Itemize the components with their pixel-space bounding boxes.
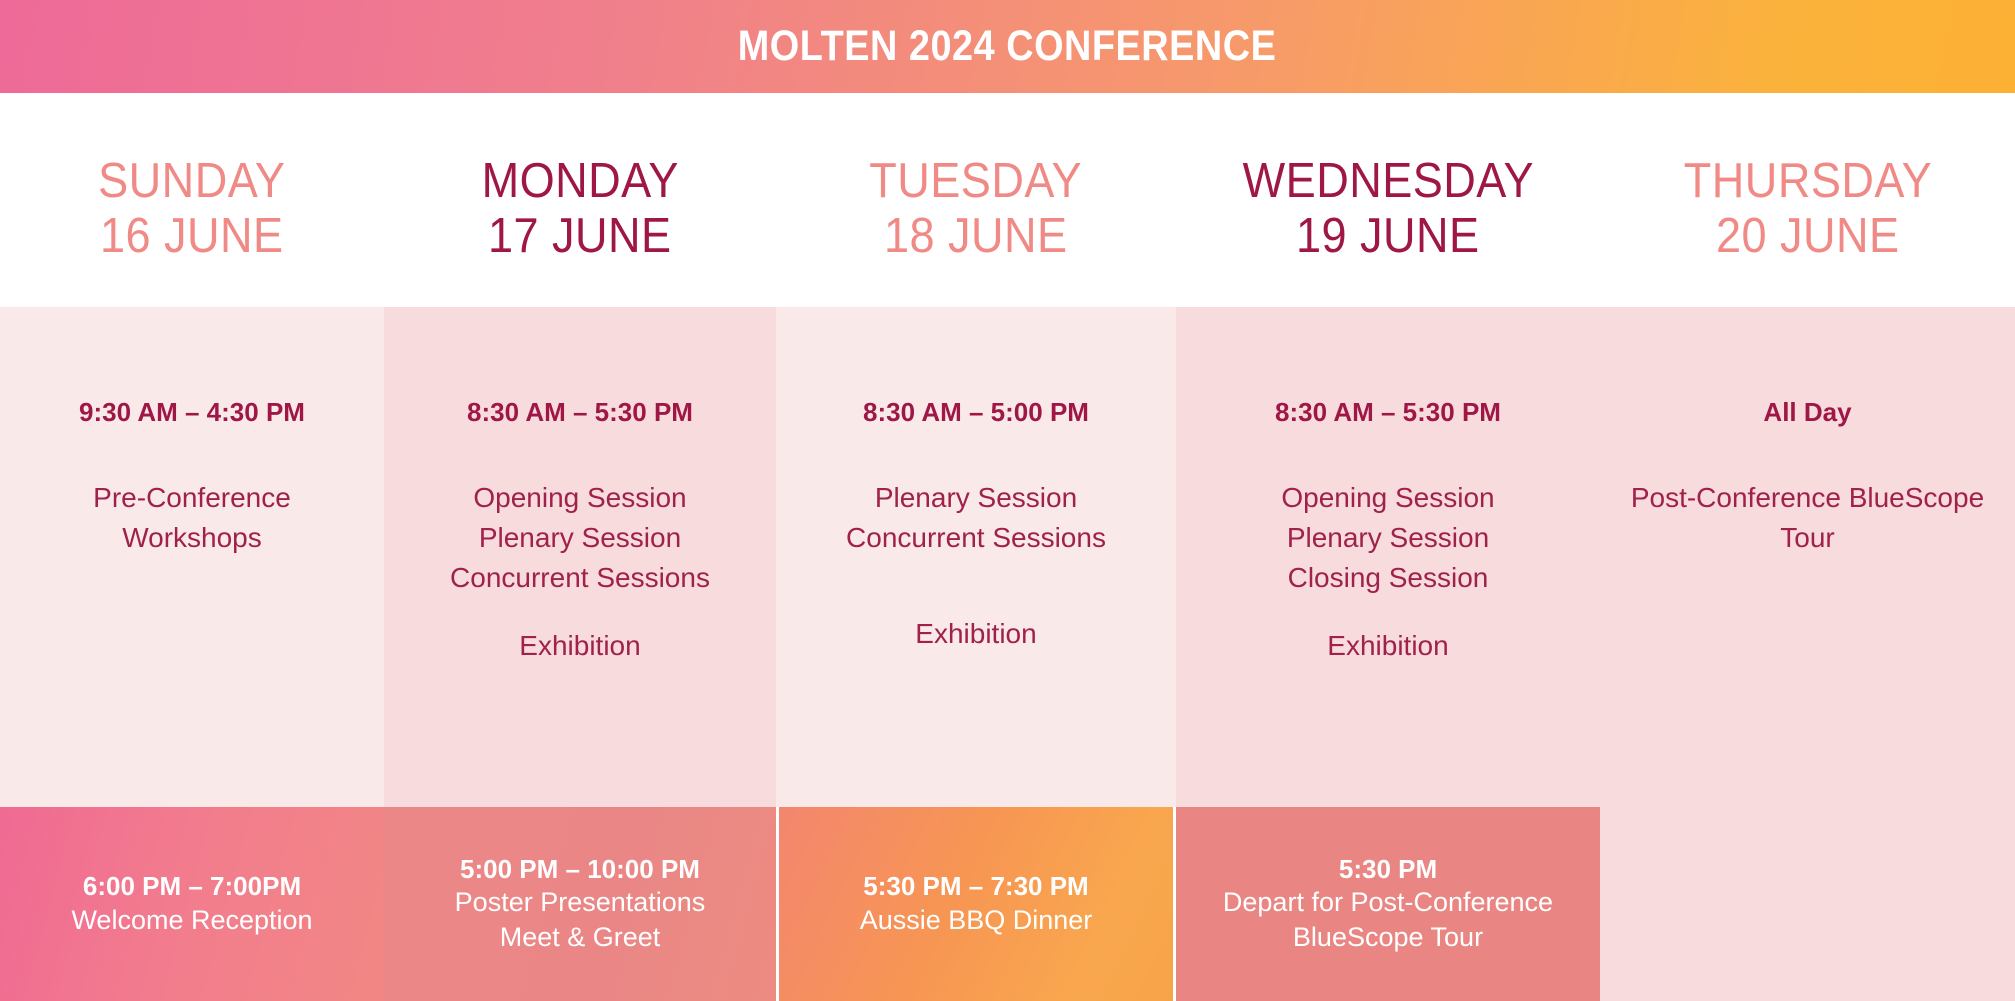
evening-cell-thursday-empty — [1600, 807, 2015, 1001]
evening-time-sunday: 6:00 PM – 7:00PM — [83, 870, 301, 903]
daytime-programme-band: 9:30 AM – 4:30 PM Pre-Conference Worksho… — [0, 307, 2015, 807]
day-header-sunday: SUNDAY 16 JUNE — [0, 93, 384, 307]
schedule-time-sunday: 9:30 AM – 4:30 PM — [79, 397, 305, 428]
evening-cell-monday: 5:00 PM – 10:00 PM Poster Presentations … — [384, 807, 776, 1001]
schedule-cell-tuesday: 8:30 AM – 5:00 PM Plenary Session Concur… — [776, 307, 1176, 807]
evening-item: Welcome Reception — [71, 903, 312, 938]
evening-cell-sunday: 6:00 PM – 7:00PM Welcome Reception — [0, 807, 384, 1001]
schedule-items-monday: Opening Session Plenary Session Concurre… — [450, 478, 710, 666]
schedule-item: Post-Conference BlueScope Tour — [1618, 478, 1998, 558]
spacer — [1281, 598, 1494, 626]
day-name-sunday: SUNDAY — [98, 154, 285, 209]
page-title: MOLTEN 2024 CONFERENCE — [738, 22, 1277, 71]
schedule-item-exhibition: Exhibition — [1281, 626, 1494, 666]
evening-cell-wednesday: 5:30 PM Depart for Post-Conference BlueS… — [1176, 807, 1600, 1001]
schedule-time-wednesday: 8:30 AM – 5:30 PM — [1275, 397, 1501, 428]
day-name-thursday: THURSDAY — [1683, 154, 1931, 209]
conference-schedule: MOLTEN 2024 CONFERENCE SUNDAY 16 JUNE MO… — [0, 0, 2015, 1001]
day-date-thursday: 20 JUNE — [1716, 209, 1900, 264]
schedule-item: Opening Session — [450, 478, 710, 518]
schedule-item: Closing Session — [1281, 558, 1494, 598]
evening-item: BlueScope Tour — [1293, 920, 1483, 955]
evening-time-wednesday: 5:30 PM — [1339, 853, 1437, 886]
day-name-wednesday: WEDNESDAY — [1242, 154, 1533, 209]
schedule-time-tuesday: 8:30 AM – 5:00 PM — [863, 397, 1089, 428]
evening-item: Poster Presentations — [455, 885, 706, 920]
spacer — [846, 586, 1106, 614]
schedule-item: Concurrent Sessions — [450, 558, 710, 598]
evening-item: Aussie BBQ Dinner — [860, 903, 1093, 938]
schedule-items-tuesday: Plenary Session Concurrent Sessions Exhi… — [846, 478, 1106, 654]
day-name-monday: MONDAY — [481, 154, 678, 209]
day-date-tuesday: 18 JUNE — [884, 209, 1068, 264]
day-header-row: SUNDAY 16 JUNE MONDAY 17 JUNE TUESDAY 18… — [0, 93, 2015, 307]
schedule-item: Opening Session — [1281, 478, 1494, 518]
day-header-thursday: THURSDAY 20 JUNE — [1600, 93, 2015, 307]
schedule-item-exhibition: Exhibition — [450, 626, 710, 666]
schedule-item-exhibition: Exhibition — [846, 614, 1106, 654]
schedule-items-sunday: Pre-Conference Workshops — [93, 478, 291, 558]
schedule-item: Plenary Session — [450, 518, 710, 558]
schedule-item: Workshops — [93, 518, 291, 558]
conference-title-banner: MOLTEN 2024 CONFERENCE — [0, 0, 2015, 93]
day-name-tuesday: TUESDAY — [870, 154, 1083, 209]
evening-time-tuesday: 5:30 PM – 7:30 PM — [863, 870, 1088, 903]
evening-programme-band: 6:00 PM – 7:00PM Welcome Reception 5:00 … — [0, 807, 2015, 1001]
schedule-items-wednesday: Opening Session Plenary Session Closing … — [1281, 478, 1494, 666]
day-date-wednesday: 19 JUNE — [1296, 209, 1480, 264]
schedule-cell-monday: 8:30 AM – 5:30 PM Opening Session Plenar… — [384, 307, 776, 807]
schedule-item: Plenary Session — [846, 478, 1106, 518]
spacer — [450, 598, 710, 626]
schedule-items-thursday: Post-Conference BlueScope Tour — [1618, 478, 1998, 558]
evening-cell-tuesday: 5:30 PM – 7:30 PM Aussie BBQ Dinner — [776, 807, 1176, 1001]
day-date-sunday: 16 JUNE — [100, 209, 284, 264]
day-date-monday: 17 JUNE — [488, 209, 672, 264]
schedule-cell-sunday: 9:30 AM – 4:30 PM Pre-Conference Worksho… — [0, 307, 384, 807]
schedule-cell-thursday: All Day Post-Conference BlueScope Tour — [1600, 307, 2015, 807]
schedule-time-monday: 8:30 AM – 5:30 PM — [467, 397, 693, 428]
day-header-wednesday: WEDNESDAY 19 JUNE — [1176, 93, 1600, 307]
schedule-item: Plenary Session — [1281, 518, 1494, 558]
schedule-item: Pre-Conference — [93, 478, 291, 518]
evening-item: Meet & Greet — [500, 920, 661, 955]
schedule-item: Concurrent Sessions — [846, 518, 1106, 558]
schedule-time-thursday: All Day — [1763, 397, 1851, 428]
spacer — [846, 558, 1106, 586]
evening-item: Depart for Post-Conference — [1223, 885, 1553, 920]
day-header-tuesday: TUESDAY 18 JUNE — [776, 93, 1176, 307]
evening-time-monday: 5:00 PM – 10:00 PM — [460, 853, 700, 886]
day-header-monday: MONDAY 17 JUNE — [384, 93, 776, 307]
schedule-cell-wednesday: 8:30 AM – 5:30 PM Opening Session Plenar… — [1176, 307, 1600, 807]
